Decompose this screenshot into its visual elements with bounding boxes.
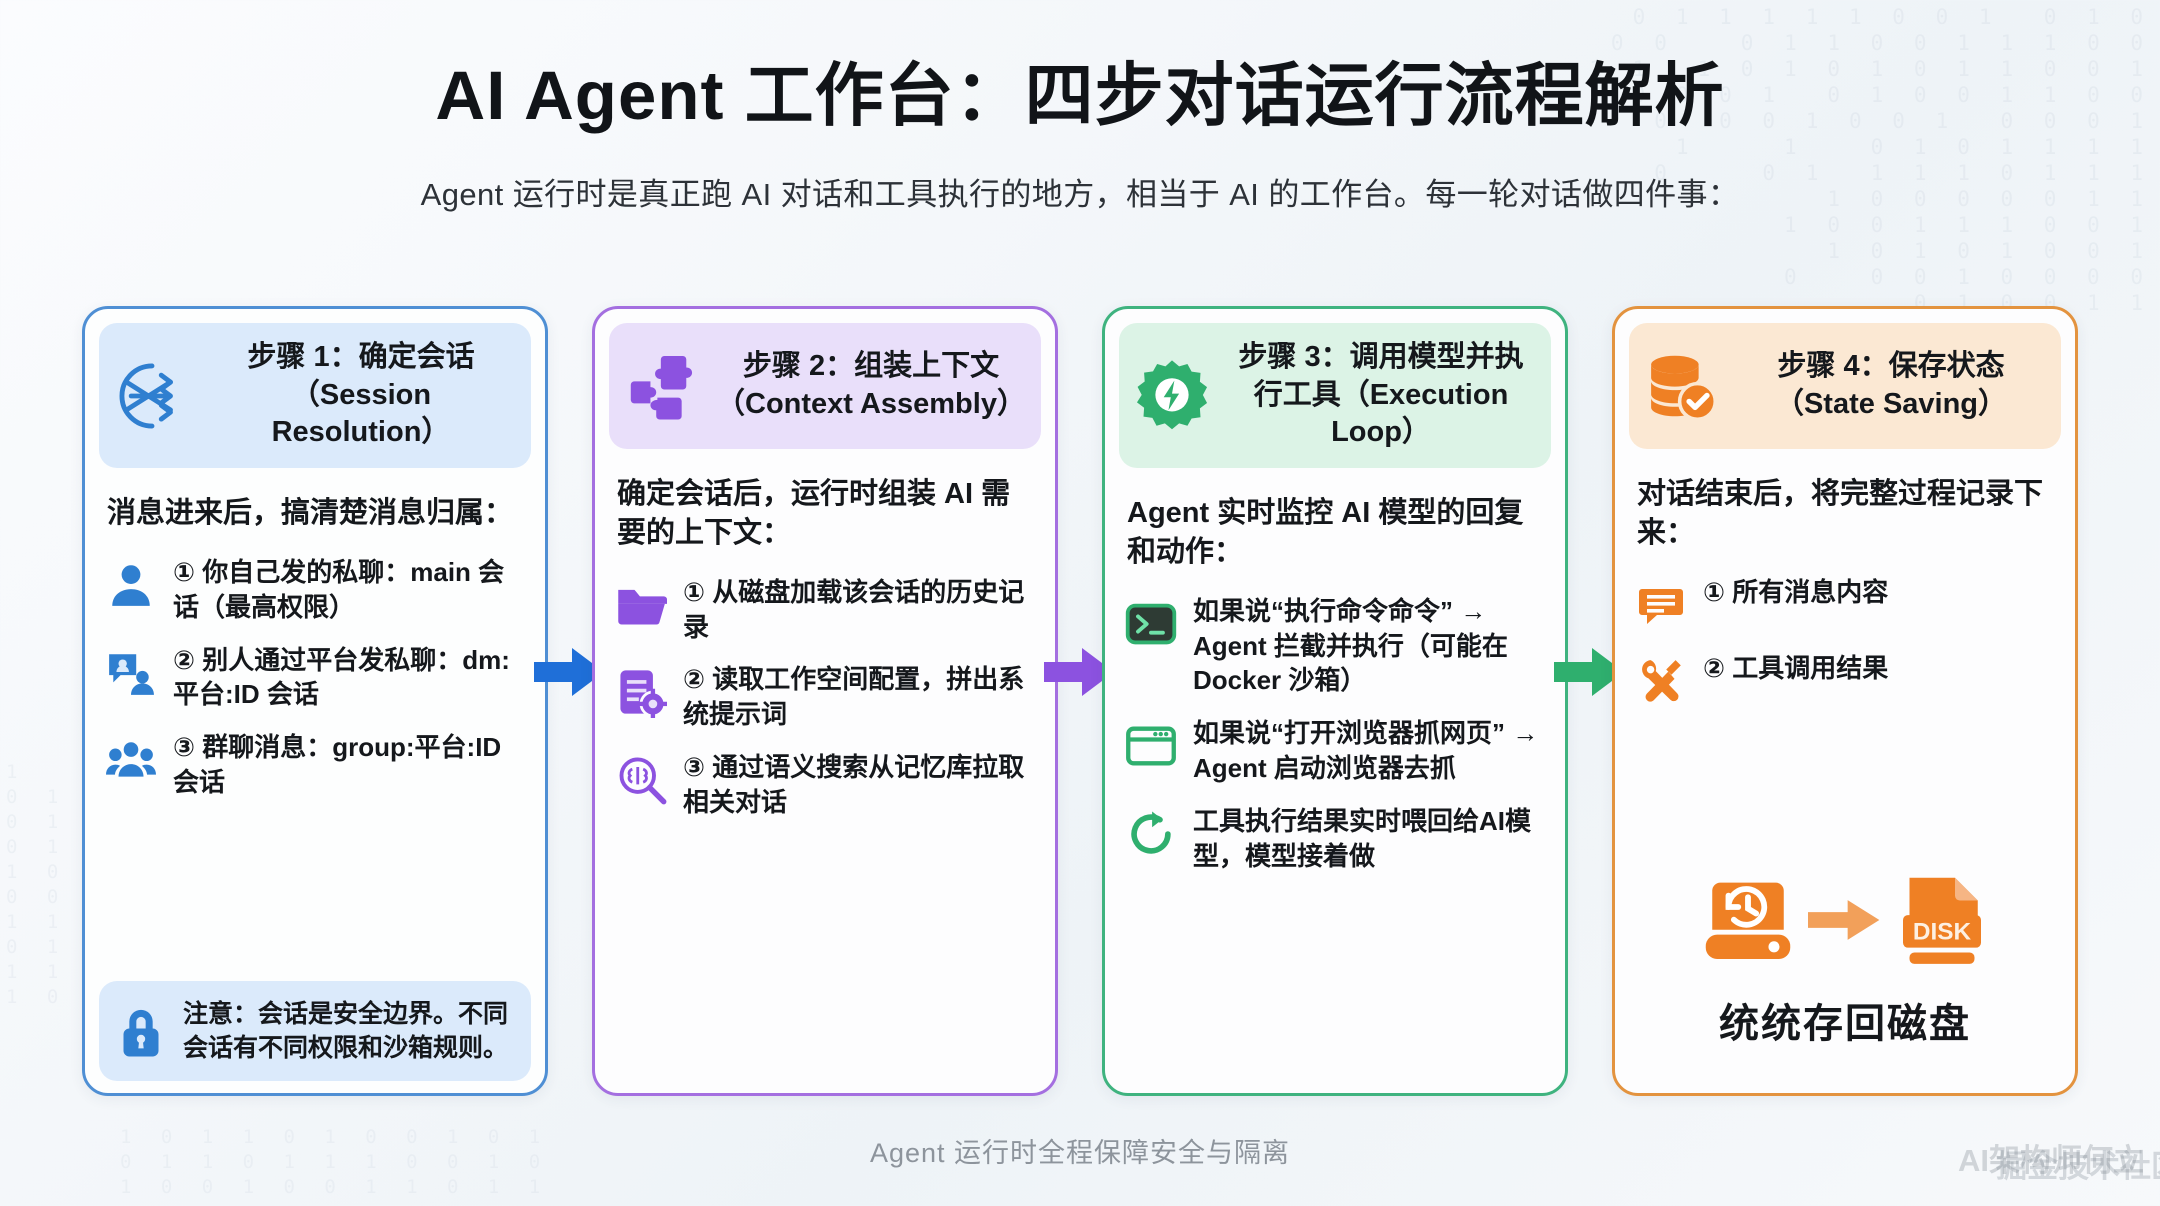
step-card-2[interactable]: 步骤 2：组装上下文（Context Assembly） 确定会话后，运行时组装… bbox=[592, 306, 1058, 1096]
infographic-page: AI Agent 工作台：四步对话运行流程解析 Agent 运行时是真正跑 AI… bbox=[0, 0, 2160, 1206]
list-item-label: ① 所有消息内容 bbox=[1703, 575, 1888, 610]
harddrive-history-icon bbox=[1696, 868, 1800, 977]
list-item-label: ③ 通过语义搜索从记忆库拉取相关对话 bbox=[683, 750, 1039, 820]
step-1-note-label: 注意：会话是安全边界。不同会话有不同权限和沙箱规则。 bbox=[183, 997, 517, 1065]
disk-illustration-row: DISK bbox=[1615, 868, 2075, 977]
step-3-header: 步骤 3：调用模型并执行工具（Execution Loop） bbox=[1119, 323, 1551, 468]
browser-window-icon bbox=[1123, 718, 1179, 774]
list-item: 如果说“执行命令命令” → Agent 拦截并执行（可能在 Docker 沙箱） bbox=[1123, 594, 1549, 698]
shuffle-circle-icon bbox=[113, 357, 191, 435]
list-item-label: ① 你自己发的私聊：main 会话（最高权限） bbox=[173, 555, 529, 625]
list-item: ② 工具调用结果 bbox=[1633, 651, 2059, 709]
list-item: ③ 群聊消息：group:平台:ID 会话 bbox=[103, 730, 529, 800]
list-item: ② 读取工作空间配置，拼出系统提示词 bbox=[613, 662, 1039, 732]
watermark-line-2: 掘金技术社区 @潘和烦铁予 bbox=[1996, 1141, 2160, 1186]
step-3-title: 步骤 3：调用模型并执行工具（Execution Loop） bbox=[1225, 339, 1537, 452]
step-3-lead: Agent 实时监控 AI 模型的回复和动作： bbox=[1127, 494, 1545, 572]
step-1-note: 注意：会话是安全边界。不同会话有不同权限和沙箱规则。 bbox=[99, 981, 531, 1081]
step-card-4[interactable]: 步骤 4：保存状态（State Saving） 对话结束后，将完整过程记录下来：… bbox=[1612, 306, 2078, 1096]
brain-search-icon bbox=[613, 752, 669, 808]
step-4-title: 步骤 4：保存状态（State Saving） bbox=[1735, 348, 2047, 423]
list-item: ① 从磁盘加载该会话的历史记录 bbox=[613, 575, 1039, 645]
database-check-icon bbox=[1643, 347, 1721, 425]
list-item: 如果说“打开浏览器抓网页” → Agent 启动浏览器去抓 bbox=[1123, 716, 1549, 786]
disk-file-icon: DISK bbox=[1890, 868, 1994, 977]
list-item: ① 你自己发的私聊：main 会话（最高权限） bbox=[103, 555, 529, 625]
watermark: AI架构师何立 掘金技术社区 @潘和烦铁予 bbox=[1958, 1135, 2144, 1180]
list-item: ① 所有消息内容 bbox=[1633, 575, 2059, 633]
step-1-items: ① 你自己发的私聊：main 会话（最高权限） ② 别人通过平台发私聊：dm:平… bbox=[103, 555, 529, 818]
step-1-title: 步骤 1：确定会话（Session Resolution） bbox=[205, 339, 517, 452]
tools-icon bbox=[1633, 653, 1689, 709]
list-item: 工具执行结果实时喂回给AI模型，模型接着做 bbox=[1123, 804, 1549, 874]
arrow-right-icon bbox=[1808, 897, 1882, 948]
page-subtitle: Agent 运行时是真正跑 AI 对话和工具执行的地方，相当于 AI 的工作台。… bbox=[0, 169, 2160, 214]
step-3-items: 如果说“执行命令命令” → Agent 拦截并执行（可能在 Docker 沙箱）… bbox=[1123, 594, 1549, 892]
list-item-label: ② 别人通过平台发私聊：dm:平台:ID 会话 bbox=[173, 643, 529, 713]
step-1-header: 步骤 1：确定会话（Session Resolution） bbox=[99, 323, 531, 468]
step-4-lead: 对话结束后，将完整过程记录下来： bbox=[1637, 475, 2055, 553]
list-item-label: ② 工具调用结果 bbox=[1703, 651, 1888, 686]
list-item-label: ① 从磁盘加载该会话的历史记录 bbox=[683, 575, 1039, 645]
step-2-title: 步骤 2：组装上下文（Context Assembly） bbox=[715, 348, 1027, 423]
step-1-lead: 消息进来后，搞清楚消息归属： bbox=[107, 494, 525, 533]
user-chat-icon bbox=[103, 645, 159, 701]
step-card-1[interactable]: 步骤 1：确定会话（Session Resolution） 消息进来后，搞清楚消… bbox=[82, 306, 548, 1096]
step-cards-row: 步骤 1：确定会话（Session Resolution） 消息进来后，搞清楚消… bbox=[0, 306, 2160, 1106]
gear-bolt-icon bbox=[1133, 357, 1211, 435]
list-item: ② 别人通过平台发私聊：dm:平台:ID 会话 bbox=[103, 643, 529, 713]
step-4-illustration: DISK 统统存回磁盘 bbox=[1615, 868, 2075, 1049]
lock-icon bbox=[113, 1004, 169, 1060]
list-item-label: ③ 群聊消息：group:平台:ID 会话 bbox=[173, 730, 529, 800]
step-2-items: ① 从磁盘加载该会话的历史记录 bbox=[613, 575, 1039, 838]
step-4-header: 步骤 4：保存状态（State Saving） bbox=[1629, 323, 2061, 449]
list-item-label: 如果说“执行命令命令” → Agent 拦截并执行（可能在 Docker 沙箱） bbox=[1193, 594, 1549, 698]
puzzle-icon bbox=[623, 347, 701, 425]
list-item-label: 工具执行结果实时喂回给AI模型，模型接着做 bbox=[1193, 804, 1549, 874]
disk-caption: 统统存回磁盘 bbox=[1615, 991, 2075, 1049]
footer-note: Agent 运行时全程保障安全与隔离 bbox=[0, 1131, 2160, 1170]
document-gear-icon bbox=[613, 664, 669, 720]
step-4-items: ① 所有消息内容 ② 工具调用结果 bbox=[1633, 575, 2059, 727]
step-2-lead: 确定会话后，运行时组装 AI 需要的上下文： bbox=[617, 475, 1035, 553]
disk-file-label: DISK bbox=[1913, 919, 1972, 946]
terminal-icon bbox=[1123, 596, 1179, 652]
step-2-header: 步骤 2：组装上下文（Context Assembly） bbox=[609, 323, 1041, 449]
folder-icon bbox=[613, 577, 669, 633]
page-title: AI Agent 工作台：四步对话运行流程解析 bbox=[0, 0, 2160, 135]
users-group-icon bbox=[103, 732, 159, 788]
chat-bubble-icon bbox=[1633, 577, 1689, 633]
refresh-loop-icon bbox=[1123, 806, 1179, 862]
list-item: ③ 通过语义搜索从记忆库拉取相关对话 bbox=[613, 750, 1039, 820]
list-item-label: ② 读取工作空间配置，拼出系统提示词 bbox=[683, 662, 1039, 732]
user-icon bbox=[103, 557, 159, 613]
list-item-label: 如果说“打开浏览器抓网页” → Agent 启动浏览器去抓 bbox=[1193, 716, 1549, 786]
step-card-3[interactable]: 步骤 3：调用模型并执行工具（Execution Loop） Agent 实时监… bbox=[1102, 306, 1568, 1096]
